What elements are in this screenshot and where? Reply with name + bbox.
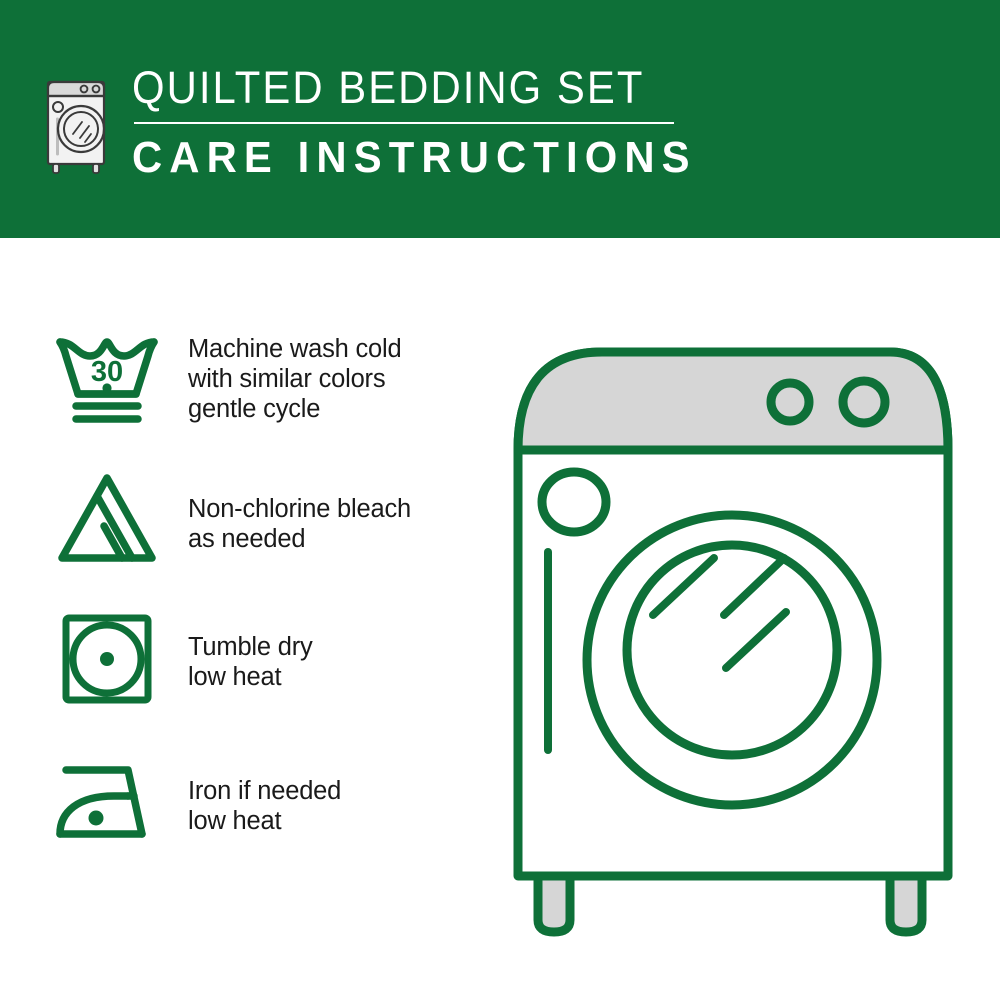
washing-machine-icon [42, 68, 114, 178]
bleach-triangle-nonchlorine-icon [44, 470, 170, 566]
header-titles: QUILTED BEDDING SET CARE INSTRUCTIONS [132, 62, 726, 182]
care-line: with similar colors [188, 364, 484, 394]
header-content: QUILTED BEDDING SET CARE INSTRUCTIONS [42, 62, 726, 182]
care-line: Iron if needed [188, 776, 484, 806]
list-item-text: Non-chlorine bleach as needed [170, 470, 484, 554]
list-item-text: Tumble dry low heat [170, 610, 484, 692]
care-line: Tumble dry [188, 632, 484, 662]
list-item: 30 Machine wash cold with similar colors… [44, 332, 484, 440]
page-title: QUILTED BEDDING SET [132, 62, 685, 114]
title-divider [134, 122, 674, 124]
care-line: Non-chlorine bleach [188, 494, 484, 524]
list-item: Tumble dry low heat [44, 610, 484, 718]
list-item: Iron if needed low heat [44, 752, 484, 860]
list-item-text: Machine wash cold with similar colors ge… [170, 332, 484, 424]
list-item: Non-chlorine bleach as needed [44, 470, 484, 578]
care-line: Machine wash cold [188, 334, 484, 364]
iron-low-heat-icon [44, 752, 170, 848]
care-line: as needed [188, 524, 484, 554]
care-line: low heat [188, 662, 484, 692]
wash-temperature-label: 30 [91, 356, 123, 388]
care-line: low heat [188, 806, 484, 836]
page-subtitle: CARE INSTRUCTIONS [132, 134, 697, 182]
header-banner: QUILTED BEDDING SET CARE INSTRUCTIONS [0, 0, 1000, 238]
care-instruction-list: 30 Machine wash cold with similar colors… [44, 332, 484, 904]
care-line: gentle cycle [188, 394, 484, 424]
wash-tub-30-gentle-icon: 30 [44, 332, 170, 428]
front-load-washing-machine-illustration [492, 330, 972, 940]
tumble-dry-low-icon [44, 610, 170, 706]
list-item-text: Iron if needed low heat [170, 752, 484, 836]
